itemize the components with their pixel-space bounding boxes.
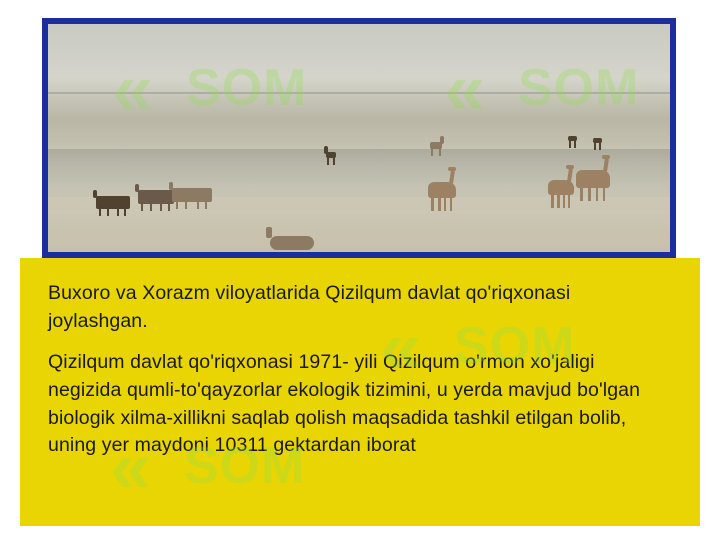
reserve-photo	[48, 24, 670, 252]
camel-silhouette	[576, 170, 610, 188]
paragraph-2: Qizilqum davlat qo'riqxonasi 1971- yili …	[48, 349, 672, 460]
horse-silhouette	[96, 196, 130, 209]
slide: Buxoro va Xorazm viloyatlarida Qizilqum …	[0, 0, 720, 540]
horse-silhouette	[172, 188, 212, 202]
description-panel: Buxoro va Xorazm viloyatlarida Qizilqum …	[20, 258, 700, 526]
camel-silhouette	[428, 182, 456, 198]
camel-silhouette	[548, 180, 574, 195]
animal-silhouette	[430, 142, 442, 149]
animal-silhouette	[326, 152, 336, 158]
horse-silhouette	[138, 190, 174, 204]
photo-frame	[42, 18, 676, 258]
animal-silhouette	[568, 136, 577, 141]
animal-silhouette	[593, 138, 602, 143]
paragraph-1: Buxoro va Xorazm viloyatlarida Qizilqum …	[48, 280, 672, 335]
camel-resting-silhouette	[270, 236, 314, 250]
photo-horizon-line	[48, 92, 670, 94]
